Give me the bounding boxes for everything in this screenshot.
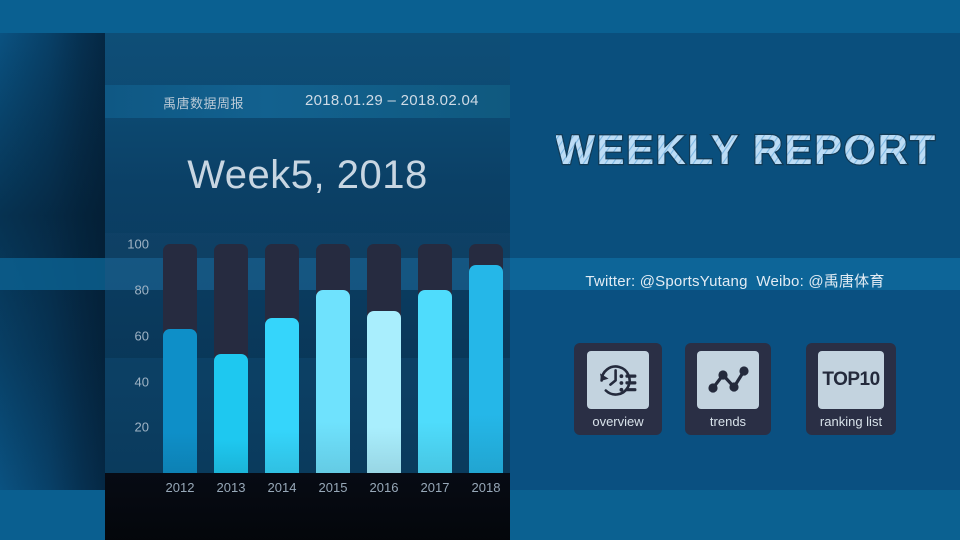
poster-canvas: 禹唐数据周报 2018.01.29 – 2018.02.04 Week5, 20… — [0, 0, 960, 540]
bar-column[interactable] — [265, 233, 299, 473]
bar-fill — [214, 354, 248, 473]
card-label: overview — [592, 414, 643, 429]
card-label: trends — [710, 414, 746, 429]
bar-column[interactable] — [214, 233, 248, 473]
bar-column[interactable] — [469, 233, 503, 473]
x-axis-label: 2017 — [418, 480, 452, 504]
x-axis-label: 2013 — [214, 480, 248, 504]
x-axis-label: 2014 — [265, 480, 299, 504]
bar-series — [163, 233, 503, 473]
bar-column[interactable] — [163, 233, 197, 473]
y-axis-tick: 20 — [135, 420, 149, 435]
background-band-top — [0, 0, 960, 33]
bar-fill — [418, 290, 452, 473]
report-title: WEEKLY REPORT — [556, 118, 936, 180]
card-trends[interactable]: trends — [685, 343, 771, 435]
chart-panel: 禹唐数据周报 2018.01.29 – 2018.02.04 Week5, 20… — [105, 33, 510, 540]
top10-icon: TOP10 — [818, 351, 884, 409]
y-axis-tick: 100 — [127, 237, 149, 252]
bar-fill — [469, 265, 503, 473]
bar-fill — [163, 329, 197, 473]
bar-fill — [265, 318, 299, 473]
card-overview[interactable]: overview — [574, 343, 662, 435]
x-axis: 2012201320142015201620172018 — [163, 480, 503, 504]
bar-column[interactable] — [418, 233, 452, 473]
bar-fill — [316, 290, 350, 473]
panel-header-bar: 禹唐数据周报 2018.01.29 – 2018.02.04 — [105, 85, 510, 118]
y-axis-tick: 80 — [135, 283, 149, 298]
social-handles: Twitter: @SportsYutang Weibo: @禹唐体育 — [510, 268, 960, 296]
panel-header-label: 禹唐数据周报 — [163, 93, 244, 112]
bar-column[interactable] — [316, 233, 350, 473]
clock-history-list-icon — [587, 351, 649, 409]
bar-fill — [367, 311, 401, 473]
x-axis-label: 2012 — [163, 480, 197, 504]
panel-date-range: 2018.01.29 – 2018.02.04 — [305, 92, 479, 109]
card-ranking-list[interactable]: TOP10 ranking list — [806, 343, 896, 435]
card-label: ranking list — [820, 414, 882, 429]
bar-column[interactable] — [367, 233, 401, 473]
x-axis-label: 2016 — [367, 480, 401, 504]
line-chart-icon — [697, 351, 759, 409]
top10-text: TOP10 — [822, 369, 879, 391]
card-row: overview trends TOP10 ranking list — [570, 343, 900, 439]
y-axis: 20406080100 — [105, 233, 155, 473]
y-axis-tick: 40 — [135, 374, 149, 389]
x-axis-label: 2015 — [316, 480, 350, 504]
svg-text:WEEKLY REPORT: WEEKLY REPORT — [556, 126, 936, 173]
y-axis-tick: 60 — [135, 328, 149, 343]
bar-chart: 20406080100 — [105, 233, 510, 473]
x-axis-label: 2018 — [469, 480, 503, 504]
page-title: Week5, 2018 — [105, 153, 510, 198]
left-band-highlight — [0, 258, 108, 290]
left-band-bottom — [0, 490, 108, 540]
